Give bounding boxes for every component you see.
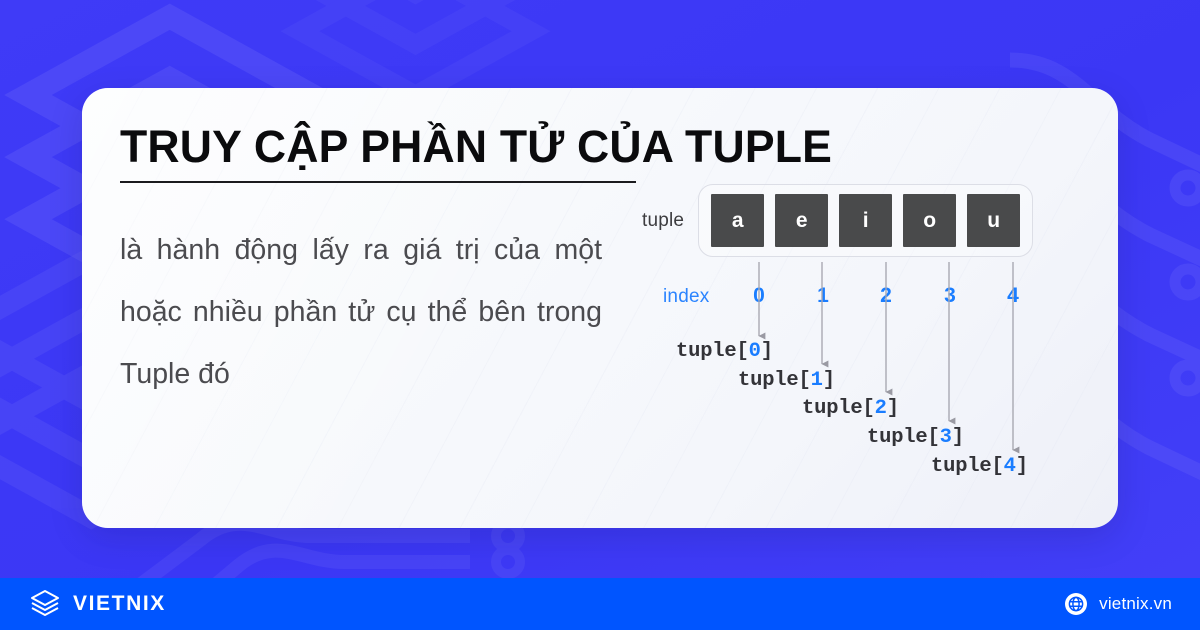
card-left-column: TRUY CẬP PHẦN TỬ CỦA TUPLE là hành động …	[120, 122, 672, 405]
tuple-cell-2: i	[839, 194, 892, 247]
footer-bar: VIETNIX vietnix.vn	[0, 578, 1200, 630]
body-paragraph: là hành động lấy ra giá trị của một hoặc…	[120, 219, 602, 405]
access-label-0-close: ]	[761, 340, 773, 363]
index-row: index 0 1 2 3 4	[642, 286, 1090, 312]
access-label-1-close: ]	[823, 369, 835, 392]
brand-name-text: VIETNIX	[73, 592, 166, 616]
index-number-0: 0	[748, 284, 770, 308]
index-number-4: 4	[1002, 284, 1024, 308]
access-label-0-open: [	[737, 340, 749, 363]
content-card: TRUY CẬP PHẦN TỬ CỦA TUPLE là hành động …	[82, 88, 1118, 528]
tuple-row: tuple a e i o u	[642, 184, 1033, 257]
access-label-4-close: ]	[1016, 455, 1028, 478]
access-label-0: tuple[0]	[676, 340, 773, 363]
access-label-3-close: ]	[952, 426, 964, 449]
access-label-1-index: 1	[811, 369, 823, 392]
access-label-3-name: tuple	[867, 426, 928, 449]
tuple-cell-4: u	[967, 194, 1020, 247]
access-label-2-close: ]	[887, 397, 899, 420]
access-label-2-open: [	[863, 397, 875, 420]
site-url-group[interactable]: vietnix.vn	[1064, 592, 1172, 616]
tuple-variable-label: tuple	[642, 210, 684, 232]
access-label-4-open: [	[992, 455, 1004, 478]
access-label-3-index: 3	[940, 426, 952, 449]
index-number-3: 3	[939, 284, 961, 308]
access-label-2-name: tuple	[802, 397, 863, 420]
tuple-cell-1: e	[775, 194, 828, 247]
access-label-0-name: tuple	[676, 340, 737, 363]
page-title: TRUY CẬP PHẦN TỬ CỦA TUPLE	[120, 122, 666, 172]
access-label-4-index: 4	[1004, 455, 1016, 478]
access-label-3-open: [	[928, 426, 940, 449]
access-label-1: tuple[1]	[738, 369, 835, 392]
tuple-container-box: a e i o u	[698, 184, 1033, 257]
site-url-text: vietnix.vn	[1099, 594, 1172, 614]
tuple-cell-3: o	[903, 194, 956, 247]
access-label-3: tuple[3]	[867, 426, 964, 449]
access-label-2-index: 2	[875, 397, 887, 420]
access-label-2: tuple[2]	[802, 397, 899, 420]
index-number-1: 1	[812, 284, 834, 308]
access-label-4: tuple[4]	[931, 455, 1028, 478]
index-row-label: index	[663, 286, 709, 308]
access-label-4-name: tuple	[931, 455, 992, 478]
access-label-0-index: 0	[749, 340, 761, 363]
access-label-1-open: [	[799, 369, 811, 392]
globe-icon	[1064, 592, 1088, 616]
title-underline-rule	[120, 181, 636, 183]
tuple-diagram: tuple a e i o u index 0 1 2 3 4	[642, 184, 1090, 504]
stacked-layers-icon	[28, 587, 62, 621]
index-number-2: 2	[875, 284, 897, 308]
brand-logo-group[interactable]: VIETNIX	[28, 587, 166, 621]
access-label-1-name: tuple	[738, 369, 799, 392]
tuple-cell-0: a	[711, 194, 764, 247]
